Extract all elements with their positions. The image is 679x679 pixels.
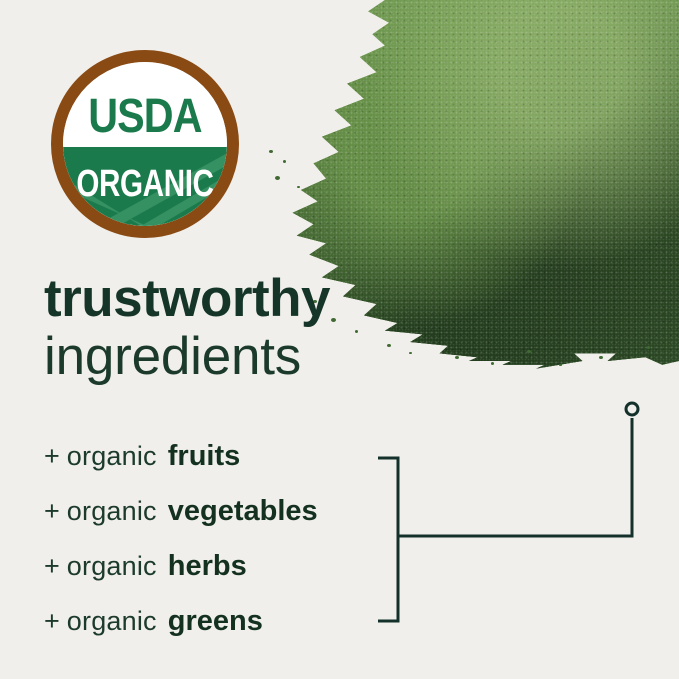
headline: trustworthy ingredients (44, 272, 464, 385)
seal-divider (57, 142, 233, 147)
seal-bottom-text: ORGANIC (76, 163, 213, 205)
bracket-callout (374, 396, 644, 632)
plus-icon: + (44, 496, 60, 527)
ingredient-list: + organic fruits + organic vegetables + … (44, 440, 384, 660)
ingredient-prefix: organic (67, 496, 157, 527)
ingredient-word: fruits (168, 440, 241, 473)
usda-organic-seal: USDA ORGANIC (47, 46, 243, 242)
plus-icon: + (44, 551, 60, 582)
powder-speck (491, 362, 494, 365)
plus-icon: + (44, 441, 60, 472)
powder-speck (599, 356, 603, 359)
powder-speck (559, 364, 562, 366)
headline-line-1: trustworthy (44, 272, 464, 326)
endpoint-circle-icon (626, 403, 638, 415)
ingredient-prefix: organic (67, 606, 157, 637)
powder-speck (275, 176, 280, 180)
powder-speck (647, 346, 650, 349)
marketing-infographic: USDA ORGANIC trustworthy ingredients + o… (0, 0, 679, 679)
list-item: + organic greens (44, 605, 384, 660)
list-item: + organic herbs (44, 550, 384, 605)
powder-speck (283, 160, 286, 163)
plus-icon: + (44, 606, 60, 637)
ingredient-word: herbs (168, 550, 247, 583)
ingredient-prefix: organic (67, 551, 157, 582)
powder-speck (297, 186, 300, 188)
headline-line-2: ingredients (44, 328, 464, 385)
ingredient-word: greens (168, 605, 263, 638)
list-item: + organic vegetables (44, 495, 384, 550)
powder-speck (269, 150, 273, 153)
ingredient-word: vegetables (168, 495, 318, 528)
list-item: + organic fruits (44, 440, 384, 495)
ingredient-prefix: organic (67, 441, 157, 472)
bracket-stem (398, 418, 632, 536)
seal-top-text: USDA (88, 89, 202, 143)
powder-speck (527, 350, 531, 353)
